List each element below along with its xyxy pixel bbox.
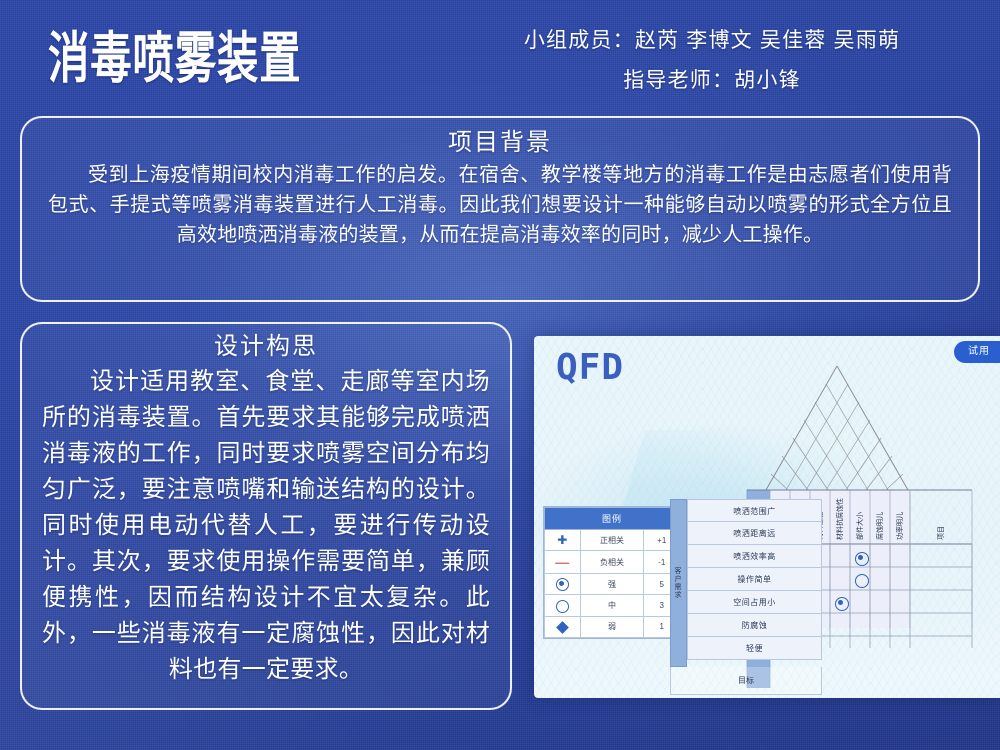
requirement-item: 喷洒效率高: [687, 545, 822, 568]
legend-label: 强: [580, 574, 644, 595]
slide-header: 消毒喷雾装置 小组成员：赵芮 李博文 吴佳蓉 吴雨萌 指导老师：胡小锋: [0, 0, 1000, 112]
minus-icon: [545, 551, 581, 574]
legend-header: 图例: [545, 508, 680, 530]
svg-text:部件大小: 部件大小: [855, 512, 864, 540]
legend-header-row: 图例: [545, 508, 680, 530]
legend-row: 负相关 -1: [545, 551, 680, 574]
legend-row: 中 3: [545, 595, 680, 616]
svg-text:项目: 项目: [937, 526, 945, 540]
legend-row: 强 5: [545, 574, 680, 595]
design-concept-title: 设计构思: [42, 330, 490, 364]
legend-row: 弱 1: [545, 616, 680, 637]
requirement-item: 喷洒距离远: [687, 522, 822, 545]
project-background-body: 受到上海疫情期间校内消毒工作的启发。在宿舍、教学楼等地方的消毒工作是由志愿者们使…: [48, 160, 952, 250]
legend-label: 中: [580, 595, 644, 616]
requirement-item: 喷洒范围广: [687, 499, 822, 522]
requirement-item: 轻便: [687, 637, 822, 660]
plus-icon: [545, 530, 581, 551]
page-title: 消毒喷雾装置: [48, 22, 301, 98]
requirement-item: 操作简单: [687, 568, 822, 591]
qfd-diagram-card: QFD 试用 图例 正相关 +1 负相关 -1: [534, 336, 1000, 698]
team-members-line: 小组成员：赵芮 李博文 吴佳蓉 吴雨萌: [452, 24, 972, 58]
svg-text:材料抗腐蚀性: 材料抗腐蚀性: [835, 498, 844, 540]
slide-canvas: 消毒喷雾装置 小组成员：赵芮 李博文 吴佳蓉 吴雨萌 指导老师：胡小锋 项目背景…: [0, 0, 1000, 750]
svg-text:腐蚀明儿: 腐蚀明儿: [875, 512, 884, 540]
legend-row: 正相关 +1: [545, 530, 680, 551]
design-concept-body: 设计适用教室、食堂、走廊等室内场所的消毒装置。首先要求其能够完成喷洒消毒液的工作…: [42, 364, 490, 688]
qfd-logo: QFD: [556, 348, 624, 388]
target-row-label: 目标: [670, 667, 822, 695]
design-concept-panel: 设计构思 设计适用教室、食堂、走廊等室内场所的消毒装置。首先要求其能够完成喷洒消…: [20, 322, 512, 710]
requirement-item: 防腐蚀: [687, 614, 822, 637]
strong-relation-icon: [545, 574, 581, 595]
legend-table: 图例 正相关 +1 负相关 -1 强 5: [544, 507, 680, 638]
svg-text:功率明儿: 功率明儿: [895, 512, 904, 540]
weak-relation-icon: [545, 616, 581, 637]
requirements-group-label: 客户需求: [670, 499, 687, 667]
requirement-item: 空间占用小: [687, 591, 822, 614]
header-credits: 小组成员：赵芮 李博文 吴佳蓉 吴雨萌 指导老师：胡小锋: [452, 24, 972, 98]
project-background-panel: 项目背景 受到上海疫情期间校内消毒工作的启发。在宿舍、教学楼等地方的消毒工作是由…: [20, 116, 980, 302]
requirement-name-list: 喷洒范围广 喷洒距离远 喷洒效率高 操作简单 空间占用小 防腐蚀 轻便: [687, 499, 822, 660]
advisor-line: 指导老师：胡小锋: [452, 64, 972, 98]
legend-label: 负相关: [580, 551, 644, 574]
roof-lattice: [766, 366, 908, 490]
legend-label: 正相关: [580, 530, 644, 551]
medium-relation-icon: [545, 595, 581, 616]
project-background-title: 项目背景: [48, 126, 952, 160]
legend-label: 弱: [580, 616, 644, 637]
qfd-legend: 图例 正相关 +1 负相关 -1 强 5: [543, 506, 681, 639]
